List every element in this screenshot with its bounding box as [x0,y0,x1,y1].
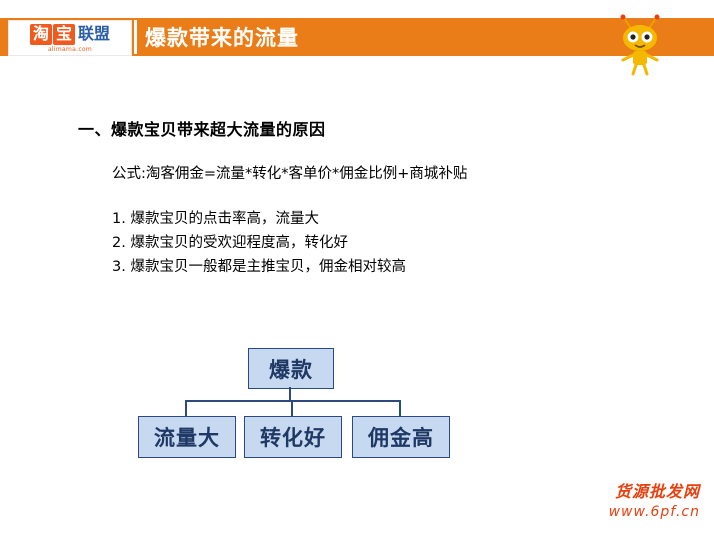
list-item: 1. 爆款宝贝的点击率高，流量大 [112,207,406,231]
diagram-node-traffic: 流量大 [138,416,236,458]
logo-char-lianmeng: 联盟 [78,26,110,42]
connector-vertical-top [289,387,291,401]
watermark: 货源批发网 www.6pf.cn [609,478,700,520]
watermark-url: www.6pf.cn [609,504,700,520]
alimama-mascot-icon [608,14,672,76]
section-title: 一、爆款宝贝带来超大流量的原因 [78,116,326,140]
taobao-alliance-logo: 淘 宝 联盟 alimama.com [8,20,132,56]
logo-subtitle: alimama.com [48,46,92,53]
diagram-node-commission: 佣金高 [352,416,450,458]
connector-vertical-left [185,400,187,416]
page-title: 爆款带来的流量 [145,22,299,52]
hierarchy-diagram: 爆款 流量大 转化好 佣金高 [130,348,490,460]
connector-vertical-middle [291,400,293,416]
reason-list: 1. 爆款宝贝的点击率高，流量大 2. 爆款宝贝的受欢迎程度高，转化好 3. 爆… [112,207,406,279]
logo-char-tao: 淘 [30,24,52,45]
logo-char-bao: 宝 [53,24,75,45]
watermark-site-name: 货源批发网 [609,478,700,502]
list-item: 3. 爆款宝贝一般都是主推宝贝，佣金相对较高 [112,255,406,279]
formula-text: 公式:淘客佣金=流量*转化*客单价*佣金比例+商城补贴 [112,162,467,183]
header-title-box: 爆款带来的流量 [134,20,299,54]
connector-horizontal [185,400,401,402]
list-item: 2. 爆款宝贝的受欢迎程度高，转化好 [112,231,406,255]
logo-main: 淘 宝 联盟 [30,24,110,45]
connector-vertical-right [399,400,401,416]
diagram-node-top: 爆款 [248,348,334,389]
diagram-node-conversion: 转化好 [244,416,342,458]
